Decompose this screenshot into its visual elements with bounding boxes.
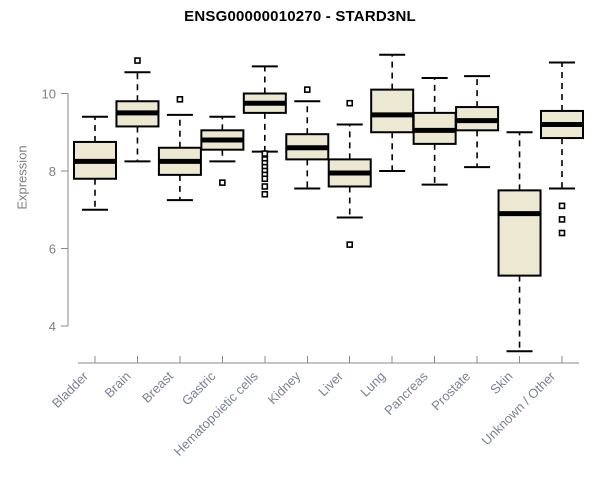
outlier-point bbox=[560, 231, 565, 236]
outlier-point bbox=[560, 203, 565, 208]
outlier-point bbox=[347, 101, 352, 106]
outlier-point bbox=[262, 151, 267, 156]
x-tick-label: Lung bbox=[357, 369, 388, 400]
y-tick-label: 4 bbox=[49, 319, 56, 334]
x-tick-label: Brain bbox=[102, 369, 134, 401]
x-tick-label: Prostate bbox=[428, 369, 473, 414]
outlier-point bbox=[262, 192, 267, 197]
boxplot-box bbox=[74, 117, 116, 210]
x-tick-label: Gastric bbox=[179, 368, 219, 408]
y-tick-label: 6 bbox=[49, 242, 56, 257]
boxplot-box bbox=[541, 63, 583, 236]
outlier-point bbox=[262, 176, 267, 181]
boxplot-box bbox=[456, 76, 498, 167]
boxplot-box bbox=[371, 55, 413, 171]
boxplot-box bbox=[116, 58, 158, 161]
boxplot-box bbox=[414, 78, 456, 185]
boxplot-box bbox=[159, 97, 201, 200]
x-tick-label: Kidney bbox=[265, 368, 304, 407]
plot-canvas: 46810 BladderBrainBreastGastricHematopoi… bbox=[0, 0, 600, 500]
x-tick-label: Skin bbox=[487, 369, 515, 397]
x-tick-label: Breast bbox=[139, 368, 176, 405]
y-axis: 46810 bbox=[42, 87, 68, 335]
outlier-point bbox=[220, 180, 225, 185]
outlier-point bbox=[305, 87, 310, 92]
x-tick-label: Liver bbox=[315, 368, 346, 399]
boxplot-box bbox=[499, 132, 541, 351]
boxplot-box bbox=[201, 117, 243, 185]
boxplot-box bbox=[329, 101, 371, 247]
y-tick-label: 8 bbox=[49, 164, 56, 179]
x-tick-label: Hematopoietic cells bbox=[171, 368, 262, 459]
boxplot-box bbox=[286, 87, 328, 188]
outlier-point bbox=[262, 184, 267, 189]
x-tick-label: Bladder bbox=[49, 368, 92, 411]
box-series bbox=[74, 55, 583, 351]
x-tick-label: Unknown / Other bbox=[479, 368, 559, 448]
outlier-point bbox=[560, 217, 565, 222]
outlier-point bbox=[347, 242, 352, 247]
boxplot-figure: ENSG00000010270 - STARD3NL Expression 46… bbox=[0, 0, 600, 500]
x-axis-tick-labels: BladderBrainBreastGastricHematopoietic c… bbox=[49, 368, 559, 459]
y-tick-label: 10 bbox=[42, 87, 56, 102]
outlier-point bbox=[177, 97, 182, 102]
boxplot-box bbox=[244, 66, 286, 196]
x-tick-label: Pancreas bbox=[381, 368, 431, 418]
outlier-point bbox=[135, 58, 140, 63]
x-axis bbox=[78, 356, 579, 363]
